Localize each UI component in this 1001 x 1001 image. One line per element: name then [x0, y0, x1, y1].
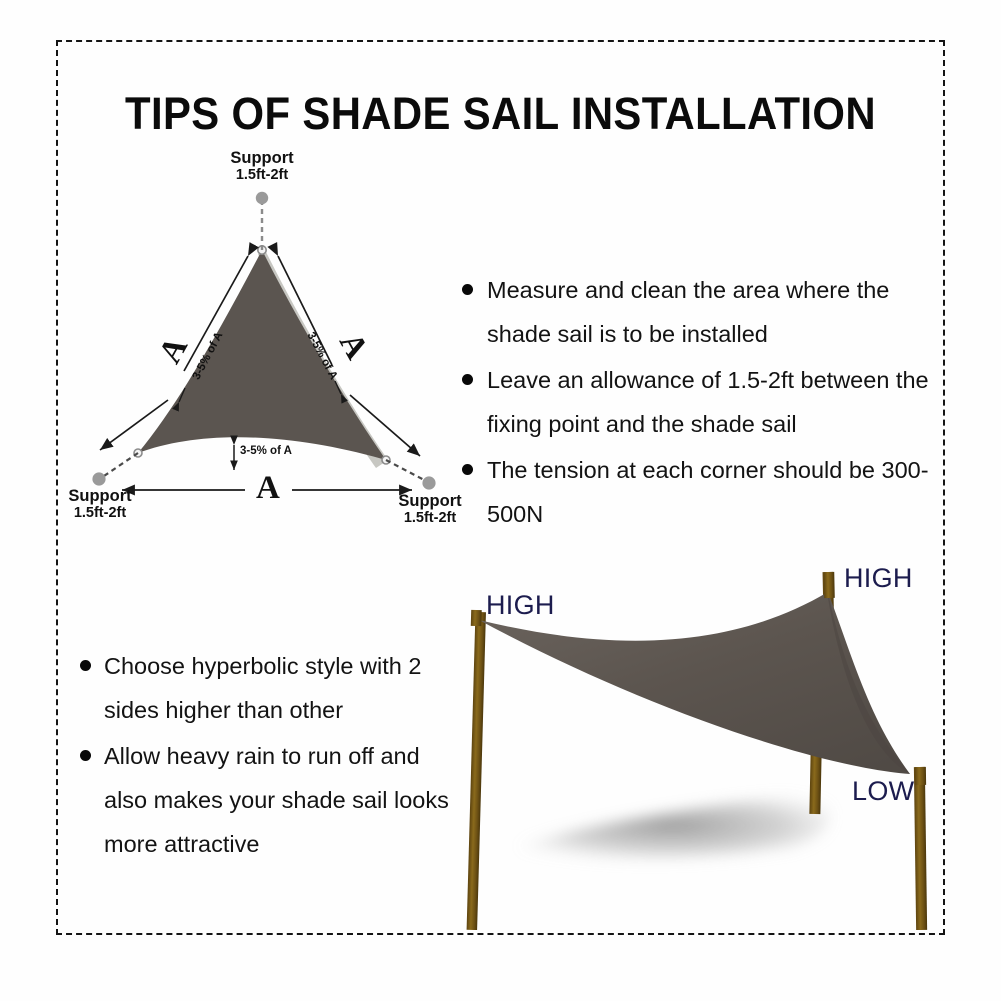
side-label-bottom-a: A — [256, 470, 280, 507]
bullet-dot-icon — [80, 660, 91, 671]
post-front-right — [914, 767, 927, 930]
list-item-text: Allow heavy rain to run off and also mak… — [104, 734, 450, 866]
side-curve-bottom: 3-5% of A — [240, 445, 292, 457]
support-label-bottom-left: Support 1.5ft-2ft — [45, 487, 155, 522]
list-item: Measure and clean the area where the sha… — [462, 268, 952, 356]
label-low: LOW — [852, 776, 914, 807]
right-support-line — [386, 460, 428, 482]
post-back-left-tip — [471, 610, 482, 626]
list-item: The tension at each corner should be 300… — [462, 448, 952, 536]
post-back-left — [467, 612, 486, 930]
top-support-dot — [256, 192, 268, 204]
post-back-right-tip — [824, 572, 835, 598]
right-support-dot — [422, 476, 435, 489]
left-support-line — [101, 453, 138, 478]
tips-list-right: Measure and clean the area where the sha… — [462, 268, 952, 538]
bullet-dot-icon — [80, 750, 91, 761]
page-title: TIPS OF SHADE SAIL INSTALLATION — [35, 88, 966, 140]
bullet-dot-icon — [462, 374, 473, 385]
list-item: Leave an allowance of 1.5-2ft between th… — [462, 358, 952, 446]
bullet-dot-icon — [462, 464, 473, 475]
support-label-top: Support 1.5ft-2ft — [207, 149, 317, 184]
list-item-text: Leave an allowance of 1.5-2ft between th… — [487, 358, 952, 446]
list-item: Choose hyperbolic style with 2 sides hig… — [80, 644, 450, 732]
label-high-left: HIGH — [486, 590, 555, 621]
list-item: Allow heavy rain to run off and also mak… — [80, 734, 450, 866]
bullet-dot-icon — [462, 284, 473, 295]
sail-ground-shadow — [515, 792, 830, 859]
triangle-diagram: Support 1.5ft-2ft Support 1.5ft-2ft Supp… — [60, 150, 460, 540]
screenshot-root: TIPS OF SHADE SAIL INSTALLATION — [0, 0, 1001, 1001]
label-high-right: HIGH — [844, 563, 913, 594]
hyperbolic-sail-scene: HIGH HIGH LOW — [440, 552, 945, 930]
post-middle — [809, 752, 821, 814]
tips-list-bottom-left: Choose hyperbolic style with 2 sides hig… — [80, 644, 450, 868]
list-item-text: Measure and clean the area where the sha… — [487, 268, 952, 356]
post-front-right-tip — [915, 767, 926, 785]
left-support-dot — [92, 472, 105, 485]
list-item-text: Choose hyperbolic style with 2 sides hig… — [104, 644, 450, 732]
list-item-text: The tension at each corner should be 300… — [487, 448, 952, 536]
